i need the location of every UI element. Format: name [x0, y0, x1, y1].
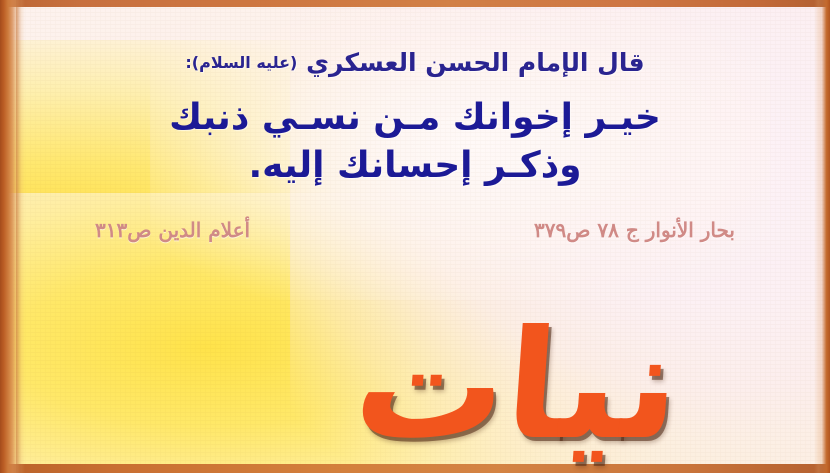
quote-attribution: قال الإمام الحسن العسكري (عليه السلام):: [0, 48, 830, 78]
brand-logo-text: نيات: [350, 311, 685, 461]
source-citations: أعلام الدين ص٣١٣ بحار الأنوار ج ٧٨ ص٣٧٩: [95, 218, 735, 242]
brand-logo: نيات: [0, 257, 830, 467]
quote-line-2: وذكـر إحسانك إليه.: [0, 142, 830, 191]
source-citation-left: بحار الأنوار ج ٧٨ ص٣٧٩: [534, 218, 735, 242]
poster-canvas: قال الإمام الحسن العسكري (عليه السلام): …: [0, 0, 830, 473]
poster-content: قال الإمام الحسن العسكري (عليه السلام): …: [0, 0, 830, 473]
source-citation-right: أعلام الدين ص٣١٣: [95, 218, 250, 242]
quote-attribution-text: قال الإمام الحسن العسكري: [306, 48, 645, 77]
quote-line-1: خيـر إخوانك مـن نسـي ذنبك: [0, 94, 830, 143]
quote-honorific: (عليه السلام):: [185, 53, 297, 72]
quote-block: قال الإمام الحسن العسكري (عليه السلام): …: [0, 48, 830, 191]
